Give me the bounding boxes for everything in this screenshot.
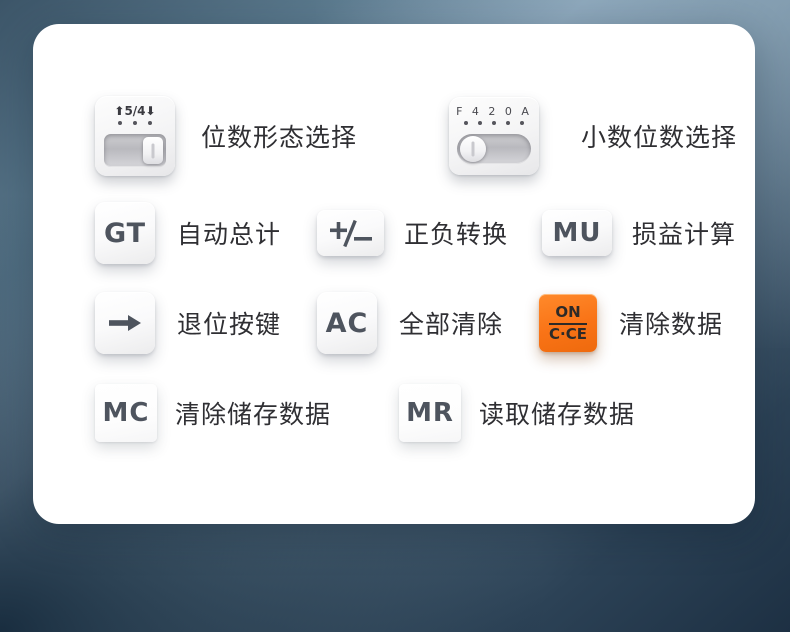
on-key-top-label: ON: [555, 305, 580, 322]
feature-memory-recall: MR 读取储存数据: [399, 384, 635, 442]
mc-description-label: 清除储存数据: [175, 395, 331, 431]
decimal-places-dots: [449, 121, 539, 125]
plus-minus-key[interactable]: [317, 210, 384, 256]
backspace-key[interactable]: [95, 292, 155, 354]
on-key-bottom-label: C·CE: [549, 327, 587, 342]
decimal-places-track[interactable]: [457, 134, 531, 164]
feature-markup: MU 损益计算: [542, 210, 736, 256]
plus-minus-description-label: 正负转换: [404, 215, 508, 251]
mr-description-label: 读取储存数据: [479, 395, 635, 431]
decimal-places-knob[interactable]: [460, 136, 486, 162]
mc-key-label: MC: [103, 398, 150, 428]
mu-description-label: 损益计算: [632, 215, 736, 251]
gt-key-label: GT: [104, 218, 146, 249]
gt-key[interactable]: GT: [95, 202, 155, 264]
digit-format-caption: ⬆5/4⬇: [95, 105, 175, 117]
feature-clear-entry: ON C·CE 清除数据: [539, 294, 723, 352]
decimal-places-caption: F 4 2 0 A: [449, 106, 539, 117]
ac-key-label: AC: [326, 308, 369, 339]
switch-dot: [506, 121, 510, 125]
ac-description-label: 全部清除: [399, 305, 503, 341]
mr-key[interactable]: MR: [399, 384, 461, 442]
mu-key-label: MU: [553, 218, 602, 248]
feature-decimal-places: F 4 2 0 A 小数位数选择: [449, 97, 737, 175]
ac-key[interactable]: AC: [317, 292, 377, 354]
digit-format-switch[interactable]: ⬆5/4⬇: [95, 96, 175, 176]
row-memory: MC 清除储存数据 MR 读取储存数据: [95, 384, 635, 442]
mu-key[interactable]: MU: [542, 210, 612, 256]
digit-format-label: 位数形态选择: [201, 118, 357, 154]
switch-dot: [133, 121, 137, 125]
right-arrow-icon: [107, 312, 143, 334]
switch-dot: [492, 121, 496, 125]
switch-dot: [118, 121, 122, 125]
page-background: ⬆5/4⬇ 位数形态选择 F: [0, 0, 790, 632]
on-key-description-label: 清除数据: [619, 305, 723, 341]
digit-format-dots: [95, 121, 175, 125]
decimal-places-switch[interactable]: F 4 2 0 A: [449, 97, 539, 175]
info-card: ⬆5/4⬇ 位数形态选择 F: [33, 24, 755, 524]
row-functions: GT 自动总计 正负转换 MU 损: [95, 202, 736, 264]
feature-backspace: 退位按键: [95, 292, 281, 354]
feature-digit-format: ⬆5/4⬇ 位数形态选择: [95, 96, 357, 176]
knob-grip-icon: [152, 143, 155, 158]
down-arrow-icon: ⬇: [146, 104, 156, 118]
up-arrow-icon: ⬆: [114, 104, 124, 118]
feature-grand-total: GT 自动总计: [95, 202, 281, 264]
knob-grip-icon: [472, 142, 475, 157]
digit-format-knob[interactable]: [143, 137, 163, 164]
gt-description-label: 自动总计: [177, 215, 281, 251]
decimal-places-label: 小数位数选择: [581, 118, 737, 154]
row-switches: ⬆5/4⬇ 位数形态选择 F: [95, 96, 737, 176]
backspace-description-label: 退位按键: [177, 305, 281, 341]
feature-sign-change: 正负转换: [317, 210, 508, 256]
on-c-ce-key[interactable]: ON C·CE: [539, 294, 597, 352]
digit-format-track[interactable]: [104, 134, 166, 167]
switch-dot: [478, 121, 482, 125]
mc-key[interactable]: MC: [95, 384, 157, 442]
switch-dot: [148, 121, 152, 125]
switch-dot: [464, 121, 468, 125]
switch-dot: [520, 121, 524, 125]
row-clear: 退位按键 AC 全部清除 ON C·CE 清除数据: [95, 292, 723, 354]
feature-all-clear: AC 全部清除: [317, 292, 503, 354]
mr-key-label: MR: [406, 398, 454, 428]
digit-format-caption-text: 5/4: [124, 104, 145, 118]
plus-minus-icon: [328, 218, 374, 248]
feature-memory-clear: MC 清除储存数据: [95, 384, 331, 442]
